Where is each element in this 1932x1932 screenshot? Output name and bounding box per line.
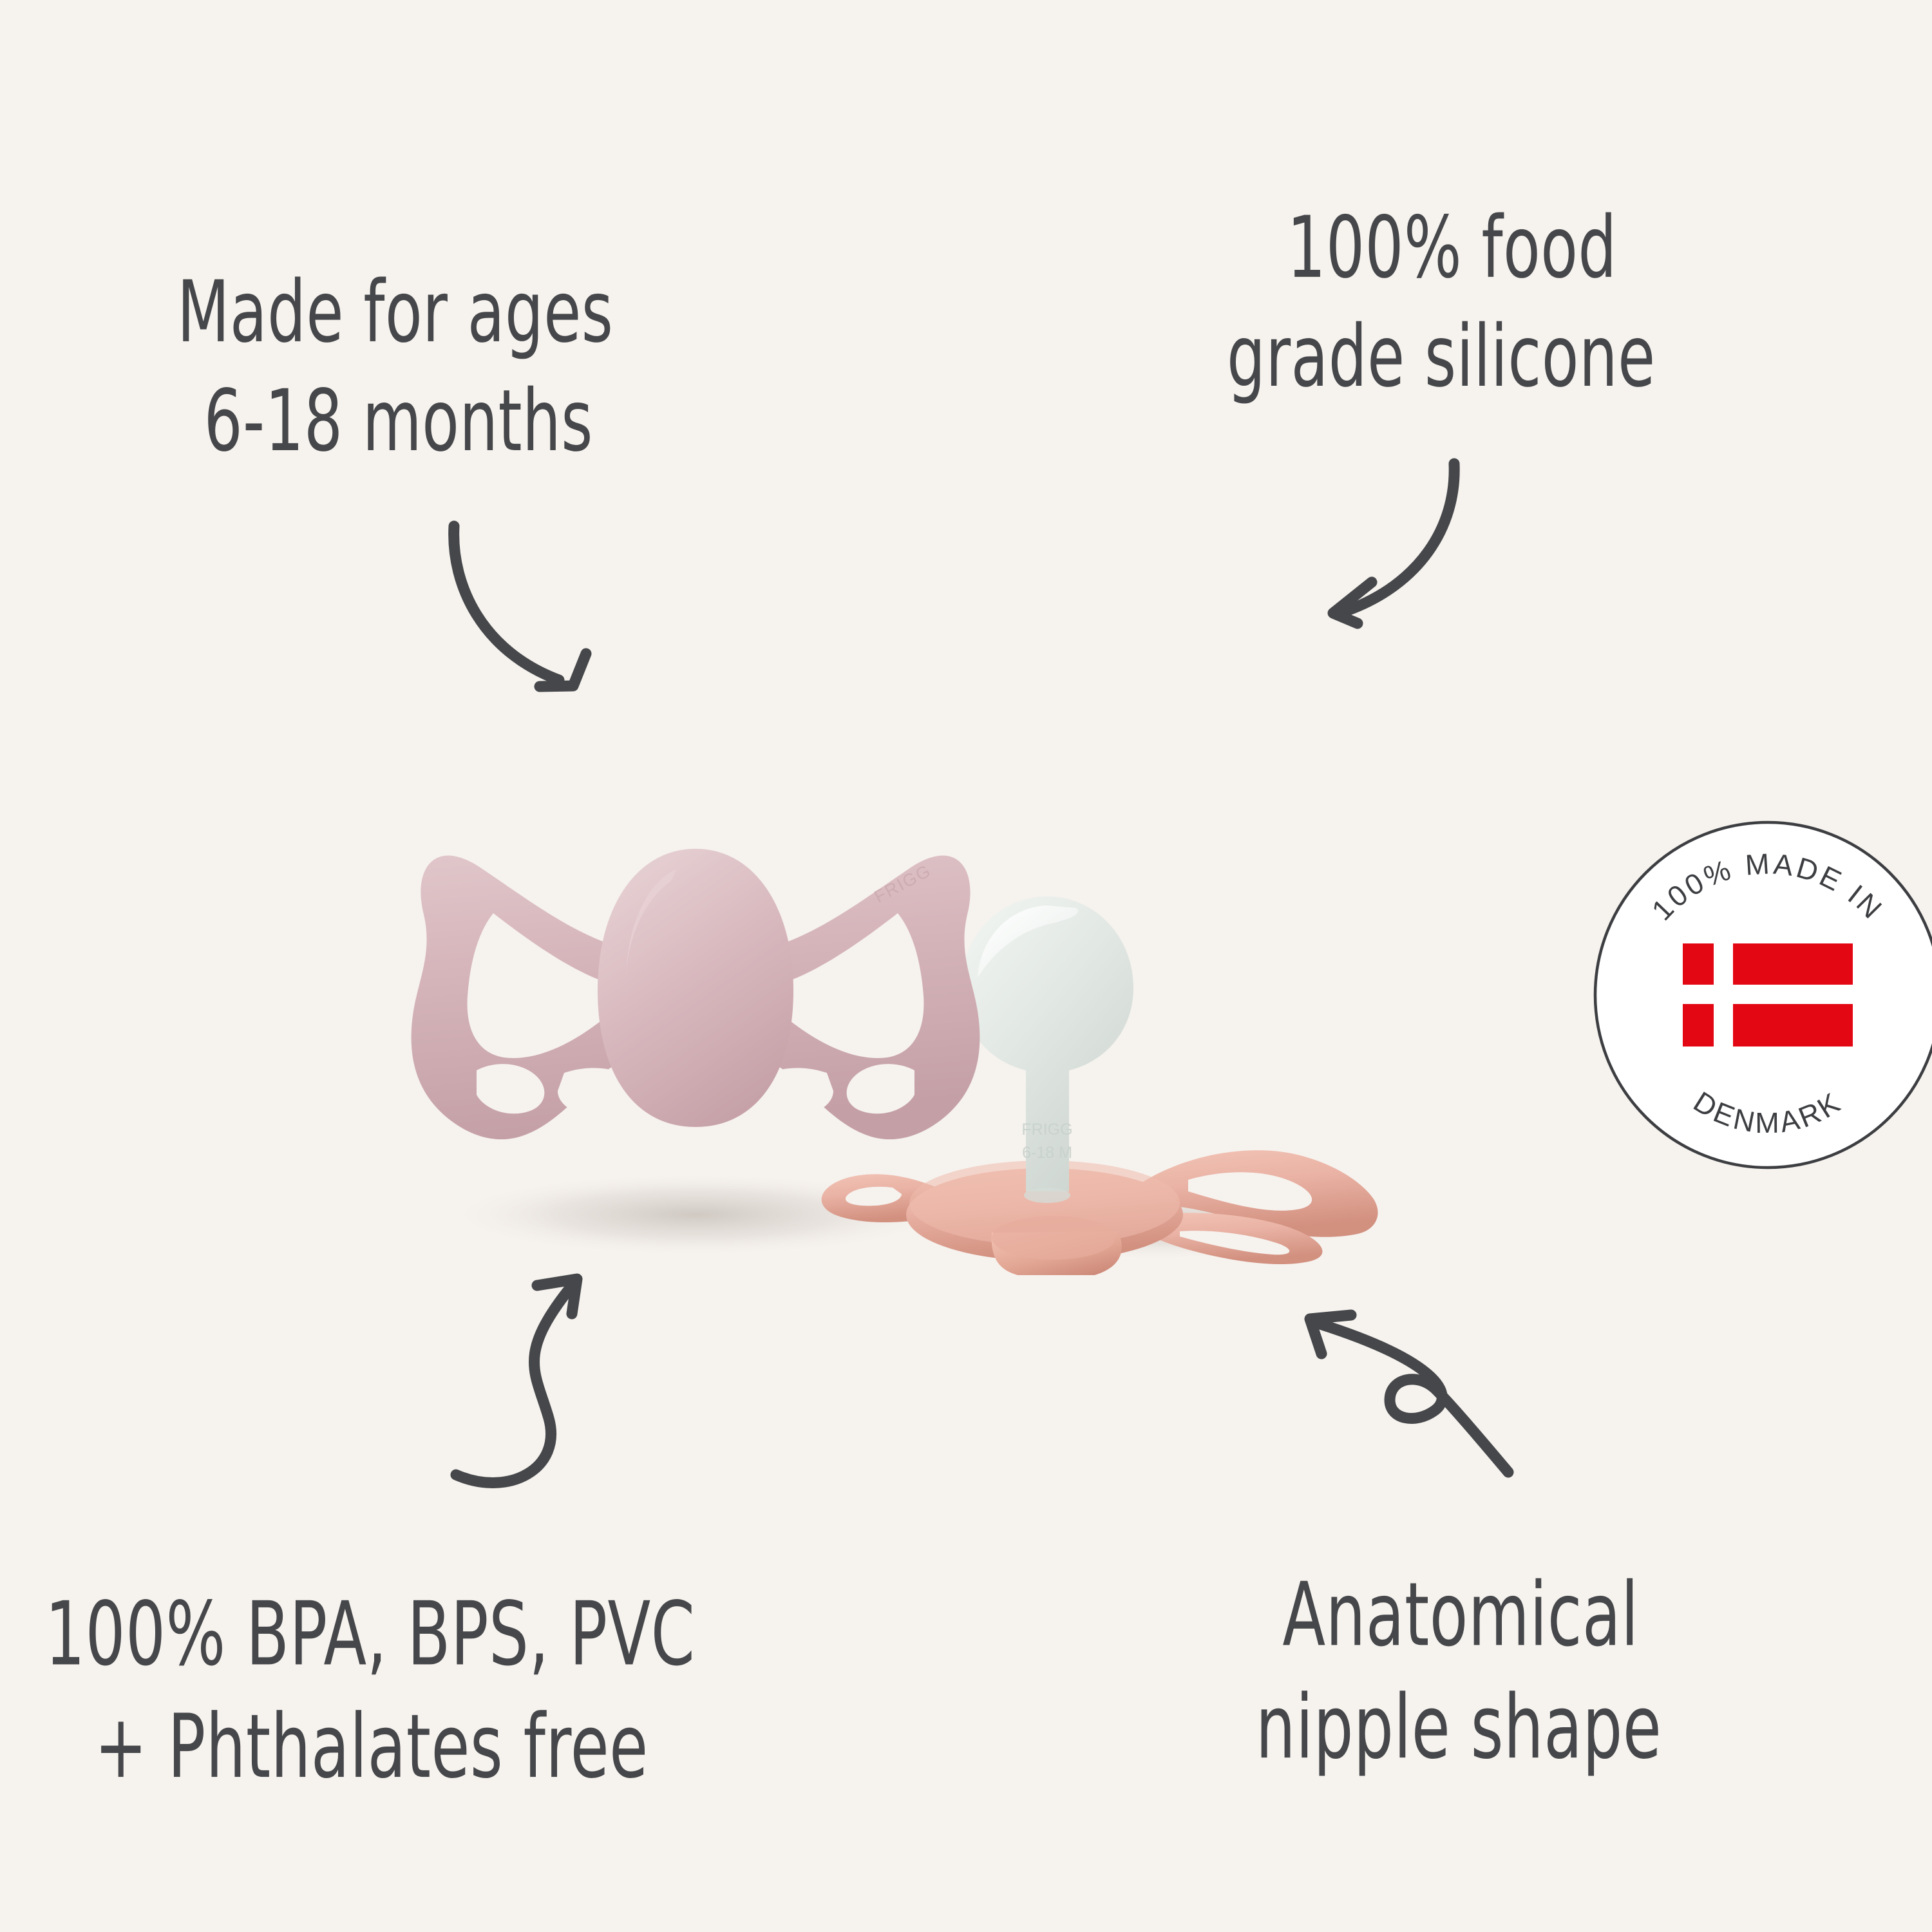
nipple-base-shadow <box>1024 1188 1070 1203</box>
callout-made-for-ages: Made for ages 6-18 months <box>177 258 613 475</box>
callout-line: grade silicone <box>1227 302 1656 411</box>
callout-line: 100% food <box>1227 193 1656 302</box>
nipple-emboss-brand: FRIGG <box>1021 1121 1072 1139</box>
callout-line: Anatomical <box>1253 1558 1662 1671</box>
callout-food-grade-silicone: 100% food grade silicone <box>1227 193 1656 411</box>
arrow-to-nipple <box>1307 438 1578 696</box>
pacifier-pair-illustration: FRIGG 6-18 M <box>374 676 1546 1275</box>
arrow-to-teat <box>1282 1282 1552 1539</box>
callout-line: nipple shape <box>1253 1671 1662 1784</box>
callout-anatomical-nipple: Anatomical nipple shape <box>1253 1558 1662 1784</box>
clear-anatomical-nipple: FRIGG 6-18 M <box>961 896 1133 1203</box>
callout-line: Made for ages <box>177 258 613 366</box>
product-image: FRIGG 6-18 M <box>374 676 1546 1275</box>
arrow-to-body <box>425 1262 696 1533</box>
callout-line: 100% BPA, BPS, PVC <box>45 1578 695 1690</box>
infographic-canvas: FRIGG 6-18 M <box>0 0 1932 1932</box>
arrow-to-shield <box>412 489 683 747</box>
peach-knob-top <box>992 1216 1115 1260</box>
callout-line: + Phthalates free <box>45 1690 695 1803</box>
front-pacifier-pink: FRIGG <box>412 849 980 1139</box>
back-pacifier-peach <box>822 1150 1378 1275</box>
pink-center-bulb <box>598 849 793 1127</box>
danish-flag-icon <box>1683 943 1853 1046</box>
callout-bpa-free: 100% BPA, BPS, PVC + Phthalates free <box>45 1578 695 1803</box>
nipple-emboss-size: 6-18 M <box>1022 1144 1072 1162</box>
callout-line: 6-18 months <box>177 366 613 475</box>
made-in-denmark-badge: 100% MADE IN DENMARK <box>1587 815 1932 1175</box>
